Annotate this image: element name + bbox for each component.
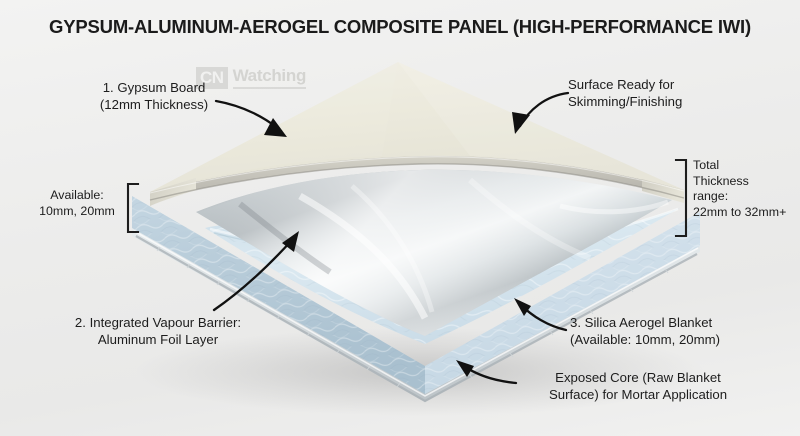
callout-surface-ready: Surface Ready for Skimming/Finishing (568, 77, 758, 110)
callout-exposed-core: Exposed Core (Raw Blanket Surface) for M… (512, 370, 764, 403)
callout-gypsum-board: 1. Gypsum Board (12mm Thickness) (74, 80, 234, 113)
callout-aerogel-blanket: 3. Silica Aerogel Blanket (Available: 10… (570, 315, 792, 348)
callout-vapour-barrier: 2. Integrated Vapour Barrier: Aluminum F… (24, 315, 292, 348)
page-title: GYPSUM-ALUMINUM-AEROGEL COMPOSITE PANEL … (0, 16, 800, 38)
diagram-canvas: GYPSUM-ALUMINUM-AEROGEL COMPOSITE PANEL … (0, 0, 800, 436)
callout-available-thickness: Available: 10mm, 20mm (22, 188, 132, 219)
callout-total-thickness-range: Total Thickness range: 22mm to 32mm+ (693, 158, 797, 220)
